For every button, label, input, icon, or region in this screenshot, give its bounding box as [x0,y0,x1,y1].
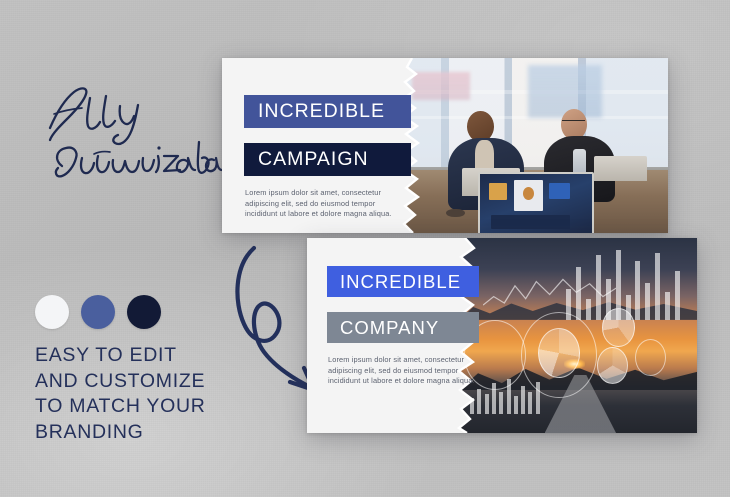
glasses-icon [562,120,585,125]
viz-bar [635,261,640,320]
slide-campaign-image [404,58,668,233]
viz-bar [645,283,650,319]
tagline-line-3: TO MATCH YOUR [35,394,245,420]
script-heading [38,76,228,182]
swatch-blue [81,295,115,329]
viz-bar [665,292,670,320]
viz-bar [521,386,525,413]
laptop-right [594,156,647,181]
viz-pie-tertiary [597,347,628,384]
viz-bar [655,253,660,320]
tagline-line-2: AND CUSTOMIZE [35,369,245,395]
slide-company-title-bar-1: INCREDIBLE [327,266,479,297]
screen-tile-3 [549,183,569,199]
office-meeting-photo [404,58,668,233]
viz-bar [499,392,503,414]
viz-bar [536,382,540,414]
viz-bar [675,271,680,320]
swatch-navy [127,295,161,329]
viz-bar-group-bottom [469,375,550,414]
sunset-data-visualization-photo [459,238,697,433]
slide-company-body-text: Lorem ipsum dolor sit amet, consectetur … [328,355,476,387]
viz-bar [492,383,496,413]
foreground-laptop-screen [478,172,594,233]
slide-company-image [459,238,697,433]
slide-campaign-title-2: CAMPAIGN [258,148,369,171]
color-swatch-row [35,295,161,329]
tagline: EASY TO EDIT AND CUSTOMIZE TO MATCH YOUR… [35,343,245,445]
viz-bar [485,394,489,414]
slide-company[interactable]: INCREDIBLE COMPANY Lorem ipsum dolor sit… [307,238,697,433]
slide-company-title-2: COMPANY [340,317,439,339]
slide-campaign-body-text: Lorem ipsum dolor sit amet, consectetur … [245,188,393,220]
screen-tile-5 [523,187,534,200]
screen-tile-1 [489,183,507,200]
slide-campaign-title-1: INCREDIBLE [258,100,385,123]
viz-bar [470,398,474,414]
viz-bar [528,392,532,413]
viz-line-chart [483,273,616,316]
slide-company-title-1: INCREDIBLE [340,271,461,293]
viz-pie-secondary [602,308,635,347]
slide-company-title-bar-2: COMPANY [327,312,479,343]
computer-mouse [446,209,464,218]
swatch-white [35,295,69,329]
viz-bar [507,379,511,413]
slide-campaign[interactable]: INCREDIBLE CAMPAIGN Lorem ipsum dolor si… [222,58,668,233]
screen-tile-4 [491,215,570,230]
slide-campaign-title-bar-2: CAMPAIGN [244,143,411,176]
slide-campaign-title-bar-1: INCREDIBLE [244,95,411,128]
viz-bar [514,396,518,413]
viz-bar [477,389,481,413]
tagline-line-4: BRANDING [35,420,245,446]
tagline-line-1: EASY TO EDIT [35,343,245,369]
office-wall-accent [412,72,470,100]
